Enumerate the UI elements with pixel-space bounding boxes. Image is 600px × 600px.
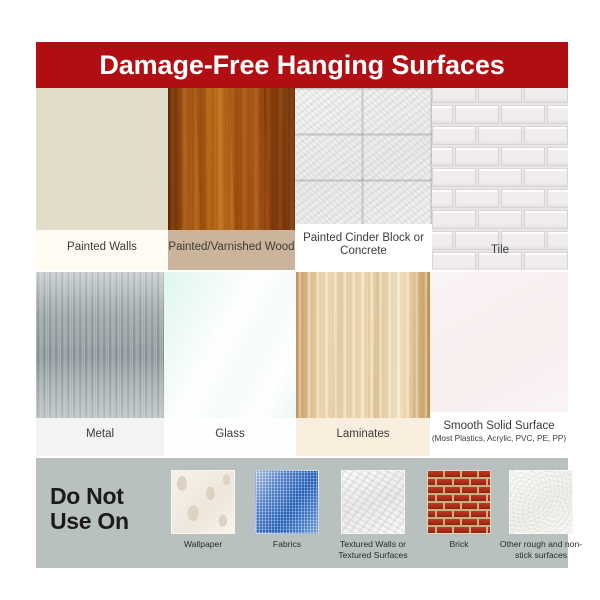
tile-unit bbox=[501, 189, 545, 208]
tile-unit bbox=[478, 210, 522, 229]
tile-unit bbox=[547, 147, 568, 166]
fabric-thumbnail-image bbox=[255, 470, 319, 534]
brick-unit bbox=[437, 511, 452, 517]
do-not-use-label-brick: Brick bbox=[416, 539, 502, 550]
brick-unit bbox=[462, 519, 477, 525]
brick-unit bbox=[428, 503, 443, 509]
surface-label-cinder-block: Painted Cinder Block or Concrete bbox=[295, 224, 432, 270]
tile-unit bbox=[524, 88, 568, 103]
do-not-use-label-fabrics: Fabrics bbox=[244, 539, 330, 550]
tile-unit bbox=[455, 105, 499, 124]
do-not-use-item-fabrics[interactable]: Fabrics bbox=[244, 470, 330, 550]
page-title: Damage-Free Hanging Surfaces bbox=[99, 52, 504, 79]
infographic-poster: Damage-Free Hanging Surfaces Painted Wal… bbox=[0, 0, 600, 600]
brick-unit bbox=[462, 471, 477, 477]
brick-unit bbox=[471, 527, 486, 533]
surface-card-laminates[interactable]: Laminates bbox=[296, 272, 430, 456]
tile-unit bbox=[432, 88, 476, 103]
surface-card-wood[interactable]: Painted/Varnished Wood bbox=[168, 88, 295, 270]
surface-row-1: Painted Walls Painted/Varnished Wood Pai… bbox=[36, 88, 568, 270]
tile-unit bbox=[432, 147, 453, 166]
smooth-solid-label-main: Smooth Solid Surface bbox=[443, 420, 554, 434]
brick-unit bbox=[445, 487, 460, 493]
tile-unit bbox=[547, 189, 568, 208]
textured-wall-thumbnail-image bbox=[341, 470, 405, 534]
brick-unit bbox=[488, 527, 492, 533]
surface-label-tile: Tile bbox=[432, 236, 568, 270]
brick-unit bbox=[427, 511, 435, 517]
brick-unit bbox=[454, 479, 469, 485]
brick-unit bbox=[437, 479, 452, 485]
do-not-use-item-rough-surfaces[interactable]: Other rough and non-stick surfaces bbox=[498, 470, 584, 560]
brick-unit bbox=[479, 519, 491, 525]
brick-unit bbox=[445, 503, 460, 509]
do-not-use-label-wallpaper: Wallpaper bbox=[160, 539, 246, 550]
tile-unit bbox=[455, 189, 499, 208]
tile-unit bbox=[501, 147, 545, 166]
brick-unit bbox=[479, 487, 491, 493]
brick-unit bbox=[445, 519, 460, 525]
brick-thumbnail-image bbox=[427, 470, 491, 534]
title-banner: Damage-Free Hanging Surfaces bbox=[36, 42, 568, 88]
brick-unit bbox=[454, 495, 469, 501]
tile-unit bbox=[547, 105, 568, 124]
brick-unit bbox=[488, 495, 492, 501]
surface-card-metal[interactable]: Metal bbox=[36, 272, 164, 456]
do-not-use-label-textured-walls: Textured Walls or Textured Surfaces bbox=[330, 539, 416, 560]
brick-unit bbox=[454, 511, 469, 517]
brick-unit bbox=[471, 479, 486, 485]
tile-unit bbox=[455, 147, 499, 166]
brick-unit bbox=[437, 495, 452, 501]
brick-unit bbox=[454, 527, 469, 533]
brick-unit bbox=[479, 503, 491, 509]
surface-label-laminates: Laminates bbox=[296, 418, 430, 456]
surface-label-smooth-solid: Smooth Solid Surface (Most Plastics, Acr… bbox=[430, 412, 568, 456]
tile-unit bbox=[432, 168, 476, 187]
brick-unit bbox=[428, 487, 443, 493]
tile-unit bbox=[478, 88, 522, 103]
tile-unit bbox=[432, 210, 476, 229]
surface-card-tile[interactable]: Tile bbox=[432, 88, 568, 270]
do-not-use-label-rough-surfaces: Other rough and non-stick surfaces bbox=[498, 539, 584, 560]
tile-unit bbox=[501, 105, 545, 124]
surface-label-painted-walls: Painted Walls bbox=[36, 230, 168, 270]
tile-unit bbox=[524, 126, 568, 145]
tile-unit bbox=[524, 168, 568, 187]
tile-unit bbox=[478, 168, 522, 187]
tile-unit bbox=[432, 126, 476, 145]
brick-unit bbox=[488, 511, 492, 517]
brick-unit bbox=[488, 479, 492, 485]
brick-unit bbox=[445, 471, 460, 477]
brick-unit bbox=[427, 495, 435, 501]
brick-unit bbox=[471, 495, 486, 501]
brick-unit bbox=[479, 471, 491, 477]
smooth-solid-label-sub: (Most Plastics, Acrylic, PVC, PE, PP) bbox=[432, 434, 566, 444]
surface-card-painted-walls[interactable]: Painted Walls bbox=[36, 88, 168, 270]
brick-unit bbox=[427, 479, 435, 485]
surface-card-cinder-block[interactable]: Painted Cinder Block or Concrete bbox=[295, 88, 432, 270]
brick-unit bbox=[427, 527, 435, 533]
surface-card-smooth-solid[interactable]: Smooth Solid Surface (Most Plastics, Acr… bbox=[430, 272, 568, 456]
brick-unit bbox=[437, 527, 452, 533]
do-not-use-heading: Do Not Use On bbox=[50, 484, 160, 534]
surface-label-metal: Metal bbox=[36, 418, 164, 456]
do-not-use-item-wallpaper[interactable]: Wallpaper bbox=[160, 470, 246, 550]
surface-card-glass[interactable]: Glass bbox=[164, 272, 296, 456]
tile-unit bbox=[524, 210, 568, 229]
rough-surface-thumbnail-image bbox=[509, 470, 573, 534]
brick-unit bbox=[462, 487, 477, 493]
brick-unit bbox=[428, 519, 443, 525]
do-not-use-item-brick[interactable]: Brick bbox=[416, 470, 502, 550]
do-not-use-item-textured-walls[interactable]: Textured Walls or Textured Surfaces bbox=[330, 470, 416, 560]
surface-label-glass: Glass bbox=[164, 418, 296, 456]
tile-unit bbox=[478, 126, 522, 145]
brick-unit bbox=[462, 503, 477, 509]
tile-unit bbox=[432, 189, 453, 208]
wallpaper-thumbnail-image bbox=[171, 470, 235, 534]
do-not-use-panel: Do Not Use On Wallpaper Fabrics Textured… bbox=[36, 458, 568, 568]
brick-unit bbox=[471, 511, 486, 517]
surface-row-2: Metal Glass Laminates Smooth Solid Surfa… bbox=[36, 272, 568, 456]
brick-unit bbox=[428, 471, 443, 477]
tile-unit bbox=[432, 105, 453, 124]
surface-label-wood: Painted/Varnished Wood bbox=[168, 230, 295, 270]
